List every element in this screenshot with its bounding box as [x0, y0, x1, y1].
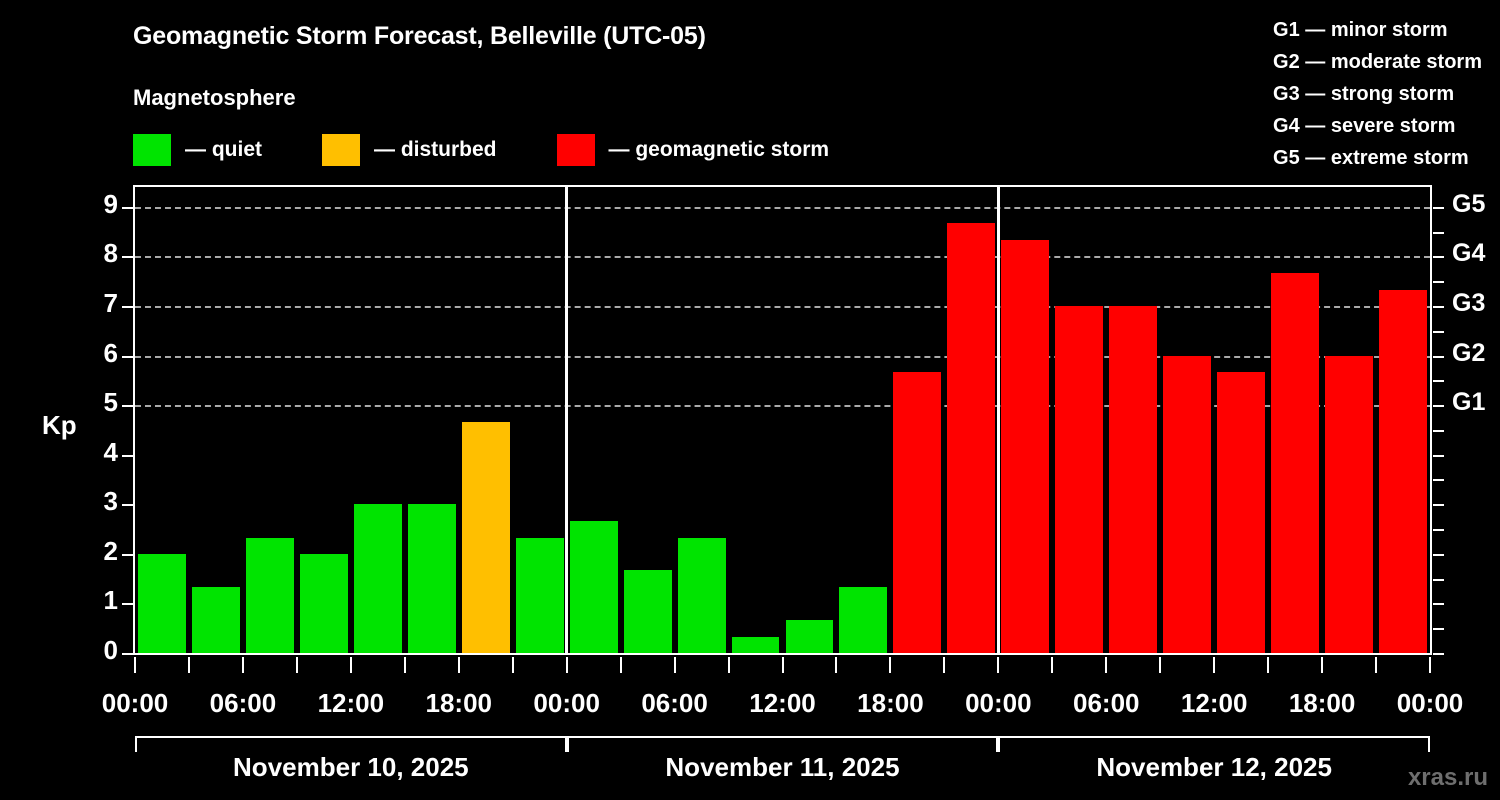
x-tick-label-11: 18:00 [1289, 688, 1356, 719]
bar-10 [678, 538, 726, 654]
g-axis-label-g2: G2 [1452, 339, 1485, 368]
y-tick-8 [122, 256, 133, 258]
y-tick-right-3 [1433, 504, 1444, 506]
x-tick-14 [889, 657, 891, 673]
legend-label-geomagnetic-storm: — geomagnetic storm [609, 138, 830, 162]
x-tick-label-9: 06:00 [1073, 688, 1140, 719]
x-tick-21 [1267, 657, 1269, 673]
bar-20 [1217, 372, 1265, 653]
x-tick-4 [350, 657, 352, 673]
y-tick-right-5.5 [1433, 380, 1444, 382]
day-label-1: November 10, 2025 [135, 752, 567, 783]
day-bracket-1 [135, 736, 567, 752]
y-tick-label-2: 2 [84, 536, 118, 567]
y-tick-right-5 [1433, 405, 1444, 407]
y-tick-label-8: 8 [84, 238, 118, 269]
bar-8 [570, 521, 618, 653]
x-tick-6 [458, 657, 460, 673]
g-legend-row-g2: G2 — moderate storm [1273, 46, 1482, 78]
bar-22 [1325, 356, 1373, 653]
plot-area [133, 185, 1432, 655]
bar-12 [786, 620, 834, 653]
x-tick-18 [1105, 657, 1107, 673]
y-tick-5 [122, 405, 133, 407]
bar-11 [732, 637, 780, 653]
bar-0 [138, 554, 186, 653]
y-tick-label-3: 3 [84, 486, 118, 517]
x-tick-13 [835, 657, 837, 673]
y-tick-right-3.5 [1433, 479, 1444, 481]
day-bracket-2 [567, 736, 999, 752]
y-tick-right-9 [1433, 207, 1444, 209]
bar-14 [893, 372, 941, 653]
g-axis-label-g4: G4 [1452, 239, 1485, 268]
y-tick-label-6: 6 [84, 338, 118, 369]
y-tick-0 [122, 653, 133, 655]
x-tick-label-3: 18:00 [426, 688, 493, 719]
y-tick-3 [122, 504, 133, 506]
bar-4 [354, 504, 402, 653]
bar-series [135, 187, 1430, 653]
g-legend-row-g5: G5 — extreme storm [1273, 142, 1482, 174]
bar-18 [1109, 306, 1157, 653]
x-tick-12 [782, 657, 784, 673]
color-legend: — quiet— disturbed— geomagnetic storm [133, 133, 829, 167]
bar-16 [1001, 240, 1049, 653]
legend-entry-quiet: — quiet [133, 133, 262, 167]
x-tick-1 [188, 657, 190, 673]
g-legend-row-g4: G4 — severe storm [1273, 110, 1482, 142]
y-tick-right-6 [1433, 356, 1444, 358]
y-tick-right-8.5 [1433, 232, 1444, 234]
x-tick-5 [404, 657, 406, 673]
legend-entry-geomagnetic-storm: — geomagnetic storm [557, 133, 830, 167]
watermark: xras.ru [1408, 764, 1488, 792]
legend-label-quiet: — quiet [185, 138, 262, 162]
x-tick-label-4: 00:00 [533, 688, 600, 719]
y-tick-right-8 [1433, 256, 1444, 258]
magnetosphere-label: Magnetosphere [133, 85, 296, 111]
x-tick-8 [566, 657, 568, 673]
legend-entry-disturbed: — disturbed [322, 133, 497, 167]
x-tick-23 [1375, 657, 1377, 673]
y-tick-label-0: 0 [84, 635, 118, 666]
y-tick-right-4 [1433, 455, 1444, 457]
y-tick-4 [122, 455, 133, 457]
x-tick-9 [620, 657, 622, 673]
x-tick-3 [296, 657, 298, 673]
plot-inner [135, 187, 1430, 653]
y-tick-label-9: 9 [84, 189, 118, 220]
x-tick-label-7: 18:00 [857, 688, 924, 719]
x-tick-20 [1213, 657, 1215, 673]
x-tick-label-8: 00:00 [965, 688, 1032, 719]
y-tick-right-2.5 [1433, 529, 1444, 531]
x-tick-label-6: 12:00 [749, 688, 816, 719]
x-tick-10 [674, 657, 676, 673]
x-tick-label-10: 12:00 [1181, 688, 1248, 719]
y-tick-right-6.5 [1433, 331, 1444, 333]
bar-19 [1163, 356, 1211, 653]
y-tick-right-0 [1433, 653, 1444, 655]
y-tick-2 [122, 554, 133, 556]
y-tick-6 [122, 356, 133, 358]
x-tick-label-0: 00:00 [102, 688, 169, 719]
y-tick-7 [122, 306, 133, 308]
day-bracket-3 [998, 736, 1430, 752]
y-tick-label-1: 1 [84, 585, 118, 616]
x-tick-16 [997, 657, 999, 673]
bar-17 [1055, 306, 1103, 653]
y-tick-label-4: 4 [84, 437, 118, 468]
day-label-2: November 11, 2025 [567, 752, 999, 783]
x-tick-19 [1159, 657, 1161, 673]
bar-9 [624, 570, 672, 653]
bar-1 [192, 587, 240, 653]
y-tick-right-1.5 [1433, 579, 1444, 581]
x-tick-label-1: 06:00 [210, 688, 277, 719]
g-scale-legend: G1 — minor stormG2 — moderate stormG3 — … [1273, 14, 1482, 174]
x-tick-0 [134, 657, 136, 673]
y-tick-label-7: 7 [84, 288, 118, 319]
y-tick-right-1 [1433, 603, 1444, 605]
x-tick-11 [728, 657, 730, 673]
page-title: Geomagnetic Storm Forecast, Belleville (… [133, 22, 706, 51]
y-tick-9 [122, 207, 133, 209]
legend-swatch-geomagnetic-storm [557, 134, 595, 166]
bar-6 [462, 422, 510, 654]
x-tick-24 [1429, 657, 1431, 673]
y-tick-right-7.5 [1433, 281, 1444, 283]
bar-21 [1271, 273, 1319, 653]
legend-swatch-quiet [133, 134, 171, 166]
g-legend-row-g1: G1 — minor storm [1273, 14, 1482, 46]
g-legend-row-g3: G3 — strong storm [1273, 78, 1482, 110]
x-tick-2 [242, 657, 244, 673]
y-tick-right-0.5 [1433, 628, 1444, 630]
bar-3 [300, 554, 348, 653]
bar-5 [408, 504, 456, 653]
bar-2 [246, 538, 294, 654]
x-tick-22 [1321, 657, 1323, 673]
legend-label-disturbed: — disturbed [374, 138, 497, 162]
bar-7 [516, 538, 564, 654]
x-tick-label-5: 06:00 [641, 688, 708, 719]
y-tick-1 [122, 603, 133, 605]
y-tick-right-2 [1433, 554, 1444, 556]
y-axis-title: Kp [42, 410, 77, 441]
g-axis-label-g1: G1 [1452, 388, 1485, 417]
bar-15 [947, 223, 995, 653]
x-tick-15 [943, 657, 945, 673]
day-label-3: November 12, 2025 [998, 752, 1430, 783]
y-tick-right-4.5 [1433, 430, 1444, 432]
bar-23 [1379, 290, 1427, 653]
legend-swatch-disturbed [322, 134, 360, 166]
bar-13 [839, 587, 887, 653]
x-tick-label-2: 12:00 [318, 688, 385, 719]
g-axis-label-g3: G3 [1452, 289, 1485, 318]
y-tick-label-5: 5 [84, 387, 118, 418]
x-tick-7 [512, 657, 514, 673]
x-tick-17 [1051, 657, 1053, 673]
g-axis-label-g5: G5 [1452, 190, 1485, 219]
y-tick-right-7 [1433, 306, 1444, 308]
x-tick-label-12: 00:00 [1397, 688, 1464, 719]
